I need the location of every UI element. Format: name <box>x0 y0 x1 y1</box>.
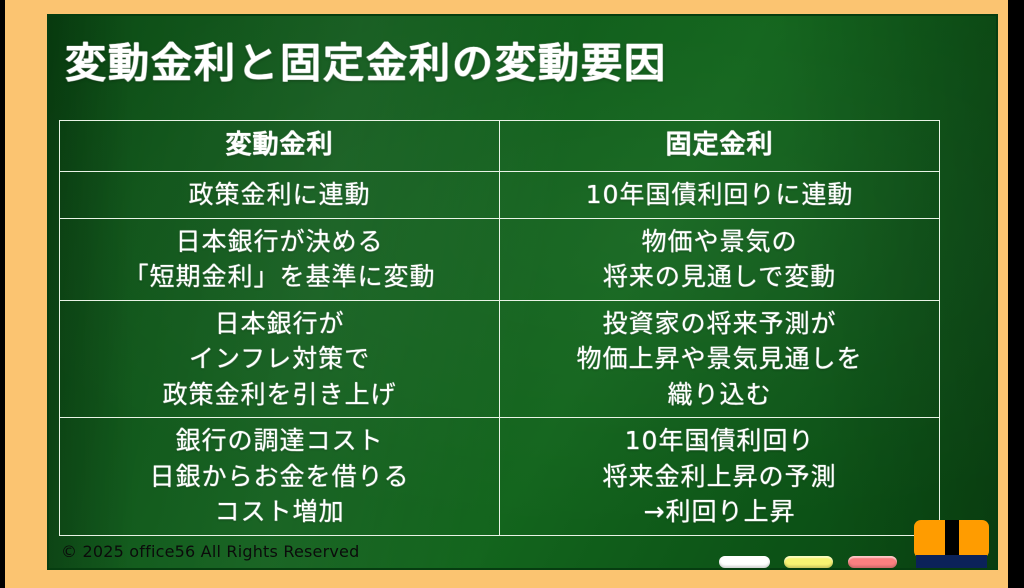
table-row: 政策金利に連動 10年国債利回りに連動 <box>60 172 940 219</box>
comparison-table: 変動金利 固定金利 政策金利に連動 10年国債利回りに連動 <box>59 120 940 536</box>
cell-line: 日銀からお金を借りる <box>66 459 493 495</box>
cell-line: 日本銀行が決める <box>66 224 493 260</box>
cell-fixed-rate-3: 投資家の将来予測が 物価上昇や景気見通しを 織り込む <box>500 300 940 418</box>
pink-chalk-icon <box>848 556 897 568</box>
cell-line: インフレ対策で <box>66 341 493 377</box>
cell-variable-rate-2: 日本銀行が決める 「短期金利」を基準に変動 <box>60 218 500 300</box>
table-row: 銀行の調達コスト 日銀からお金を借りる コスト増加 10年国債利回り 将来金利上… <box>60 418 940 536</box>
chalkboard-surface: 変動金利と固定金利の変動要因 変動金利 固定金利 政策金利に連動 10年国債利回 <box>49 16 996 568</box>
cell-line: 物価上昇や景気見通しを <box>506 341 933 377</box>
cell-line: 政策金利に連動 <box>66 177 493 213</box>
cell-line: 投資家の将来予測が <box>506 306 933 342</box>
cell-line: 銀行の調達コスト <box>66 423 493 459</box>
copyright-text: © 2025 office56 All Rights Reserved <box>61 542 359 561</box>
cell-fixed-rate-2: 物価や景気の 将来の見通しで変動 <box>500 218 940 300</box>
table-header-row: 変動金利 固定金利 <box>60 121 940 172</box>
cell-variable-rate-1: 政策金利に連動 <box>60 172 500 219</box>
cell-line: 将来金利上昇の予測 <box>506 459 933 495</box>
cell-variable-rate-4: 銀行の調達コスト 日銀からお金を借りる コスト増加 <box>60 418 500 536</box>
column-header-fixed-rate: 固定金利 <box>500 121 940 172</box>
cell-line: 織り込む <box>506 377 933 413</box>
cell-line: 物価や景気の <box>506 224 933 260</box>
table-row: 日本銀行が決める 「短期金利」を基準に変動 物価や景気の 将来の見通しで変動 <box>60 218 940 300</box>
cell-line: 将来の見通しで変動 <box>506 259 933 295</box>
column-header-variable-rate: 変動金利 <box>60 121 500 172</box>
yellow-chalk-icon <box>784 556 833 568</box>
cell-line: 「短期金利」を基準に変動 <box>66 259 493 295</box>
cell-line: 日本銀行が <box>66 306 493 342</box>
table-header: 変動金利 固定金利 <box>60 121 940 172</box>
cell-line: 政策金利を引き上げ <box>66 377 493 413</box>
page-title: 変動金利と固定金利の変動要因 <box>65 40 667 87</box>
cell-variable-rate-3: 日本銀行が インフレ対策で 政策金利を引き上げ <box>60 300 500 418</box>
eraser-base <box>916 555 987 568</box>
board-frame: 変動金利と固定金利の変動要因 変動金利 固定金利 政策金利に連動 10年国債利回 <box>5 0 1008 588</box>
slide-page: 変動金利と固定金利の変動要因 変動金利 固定金利 政策金利に連動 10年国債利回 <box>0 0 1024 588</box>
cell-line: →利回り上昇 <box>506 494 933 530</box>
table-row: 日本銀行が インフレ対策で 政策金利を引き上げ 投資家の将来予測が 物価上昇や景… <box>60 300 940 418</box>
table-body: 政策金利に連動 10年国債利回りに連動 日本銀行が決める 「短期金利」を基準に変… <box>60 172 940 536</box>
cell-line: コスト増加 <box>66 494 493 530</box>
eraser-strap <box>945 520 959 558</box>
cell-fixed-rate-1: 10年国債利回りに連動 <box>500 172 940 219</box>
cell-line: 10年国債利回り <box>506 423 933 459</box>
cell-fixed-rate-4: 10年国債利回り 将来金利上昇の予測 →利回り上昇 <box>500 418 940 536</box>
cell-line: 10年国債利回りに連動 <box>506 177 933 213</box>
white-chalk-icon <box>719 556 770 568</box>
blackboard-eraser-icon <box>914 520 989 568</box>
